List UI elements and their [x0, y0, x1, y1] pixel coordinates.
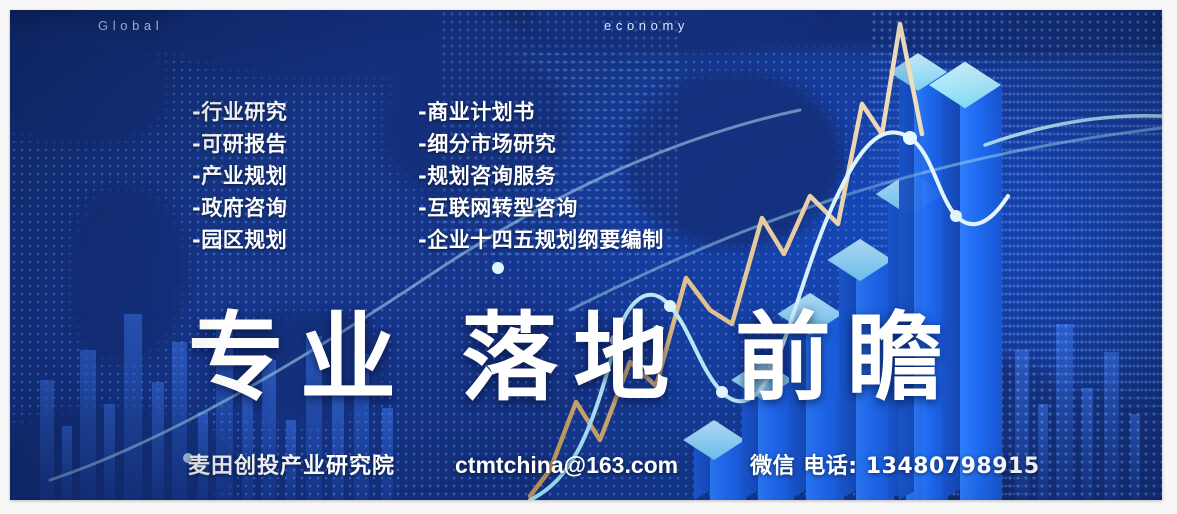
service-item: -行业研究	[192, 96, 287, 128]
kicker-right: e c o n o m y	[604, 18, 685, 33]
service-list-left: -行业研究 -可研报告 -产业规划 -政府咨询 -园区规划	[192, 96, 287, 256]
promo-banner: G l o b a l e c o n o m y -行业研究 -可研报告 -产…	[10, 10, 1162, 500]
service-item: -园区规划	[192, 224, 287, 256]
service-list-right: -商业计划书 -细分市场研究 -规划咨询服务 -互联网转型咨询 -企业十四五规划…	[418, 96, 664, 256]
footer-contact-bar: 麦田创投产业研究院 ctmtchina@163.com 微信 电话: 13480…	[188, 448, 1040, 480]
data-point-marker	[903, 131, 917, 145]
banner-stage: G l o b a l e c o n o m y -行业研究 -可研报告 -产…	[0, 0, 1177, 514]
data-point-marker	[950, 210, 962, 222]
service-item: -产业规划	[192, 160, 287, 192]
service-item: -细分市场研究	[418, 128, 664, 160]
email-address[interactable]: ctmtchina@163.com	[455, 452, 678, 479]
organization-name: 麦田创投产业研究院	[188, 448, 395, 480]
service-item: -企业十四五规划纲要编制	[418, 224, 664, 256]
service-item: -规划咨询服务	[418, 160, 664, 192]
service-item: -可研报告	[192, 128, 287, 160]
data-point-marker	[492, 262, 504, 274]
service-item: -商业计划书	[418, 96, 664, 128]
service-item: -互联网转型咨询	[418, 192, 664, 224]
service-item: -政府咨询	[192, 192, 287, 224]
phone-contact: 微信 电话: 13480798915	[750, 448, 1040, 480]
kicker-left: G l o b a l	[98, 18, 159, 33]
headline-slogan: 专业 落地 前瞻	[188, 306, 959, 410]
